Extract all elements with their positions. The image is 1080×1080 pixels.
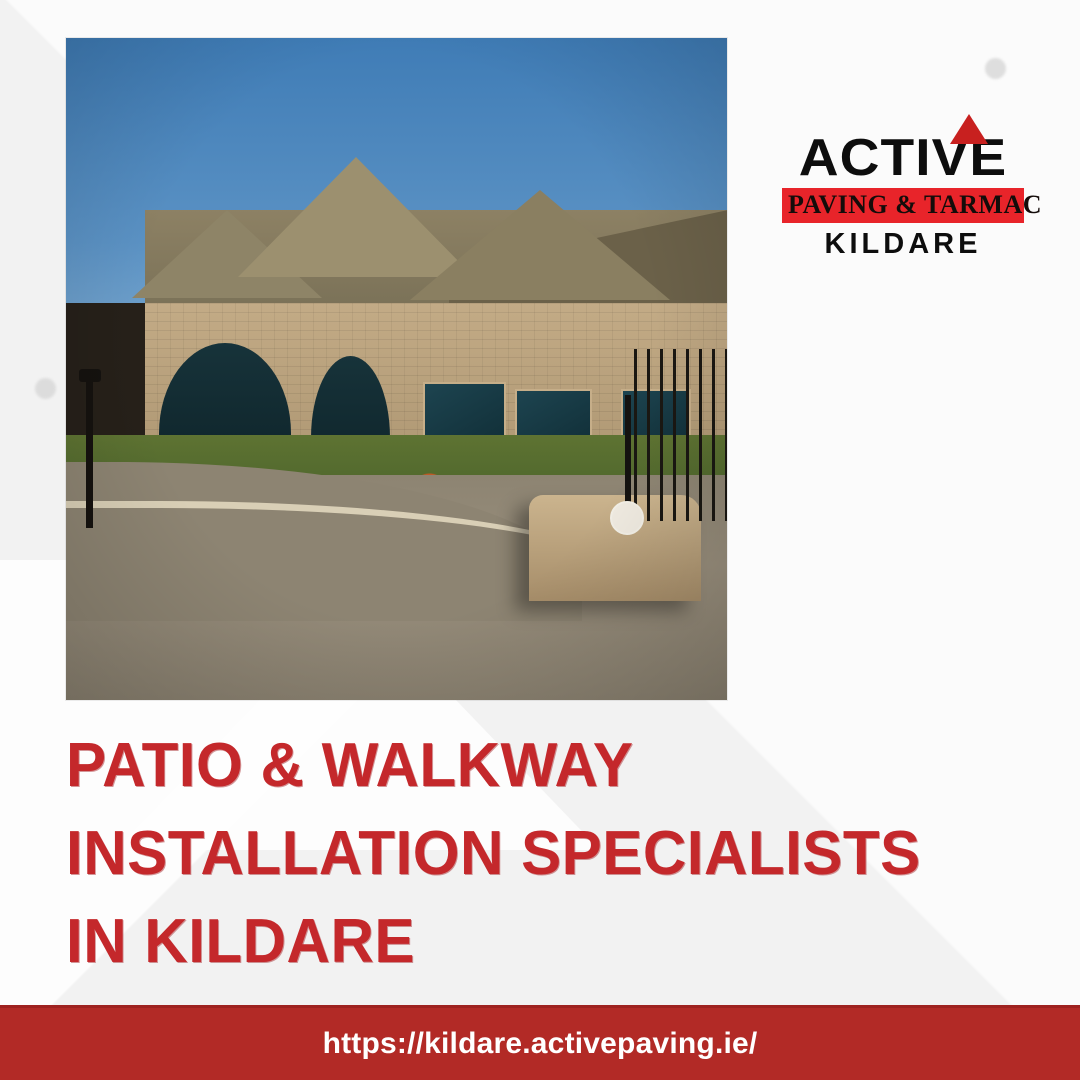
hero-photo: [66, 38, 727, 700]
headline-line-2: INSTALLATION SPECIALISTS: [66, 810, 958, 898]
promo-poster: ACTIVE PAVING & TARMAC KILDARE PATIO & W…: [0, 0, 1080, 1080]
logo-region-text: KILDARE: [782, 228, 1024, 261]
decorative-dot-icon: [985, 58, 1006, 79]
headline-line-1: PATIO & WALKWAY: [66, 722, 958, 810]
triangle-icon: [950, 114, 988, 144]
logo-tagline-text: PAVING & TARMAC: [788, 190, 1042, 219]
decorative-dot-icon: [35, 378, 56, 399]
footer-bar: https://kildare.activepaving.ie/: [0, 1005, 1080, 1080]
brand-logo: ACTIVE PAVING & TARMAC KILDARE: [782, 132, 1024, 261]
photo-vignette: [66, 38, 727, 700]
website-url[interactable]: https://kildare.activepaving.ie/: [323, 1027, 758, 1061]
logo-brand-text: ACTIVE: [775, 132, 1032, 184]
logo-tagline-band: PAVING & TARMAC: [782, 188, 1024, 223]
hero-photo-scene: [66, 38, 727, 700]
headline-line-3: IN KILDARE: [66, 898, 958, 986]
headline: PATIO & WALKWAY INSTALLATION SPECIALISTS…: [66, 722, 986, 986]
